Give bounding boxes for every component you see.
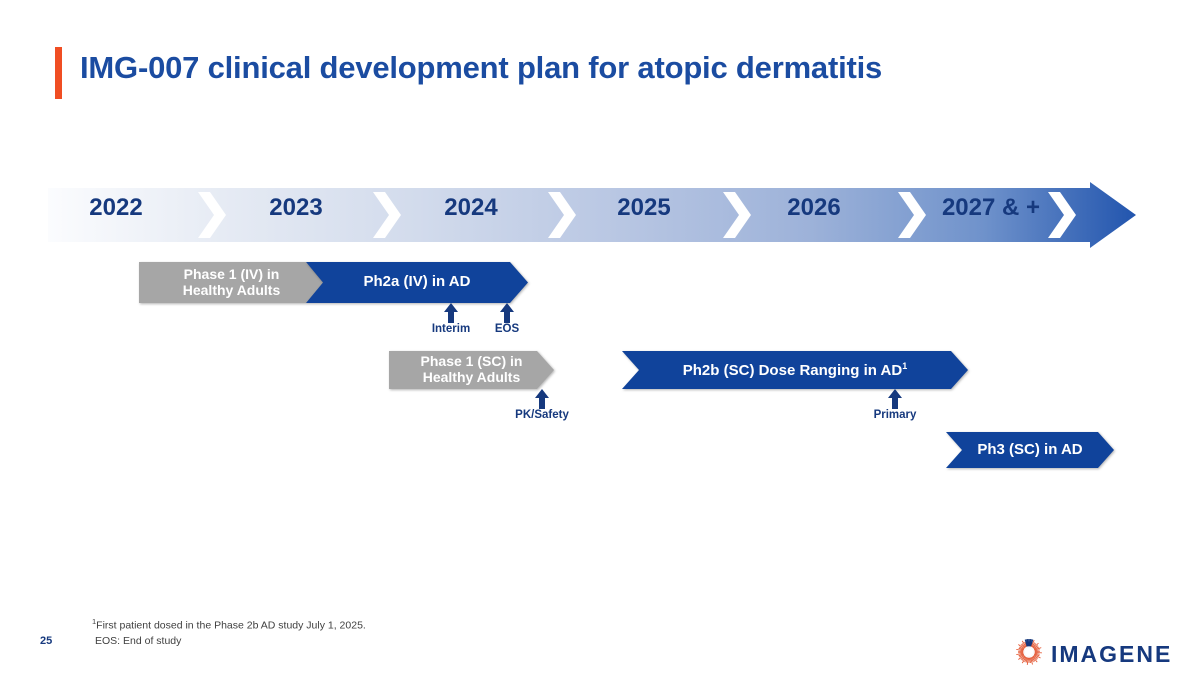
phase-bar-ph3-sc: Ph3 (SC) in AD <box>946 432 1114 468</box>
phase-bar-phase1-sc: Phase 1 (SC) in Healthy Adults <box>389 351 554 389</box>
timeline-year-2026: 2026 <box>758 194 870 222</box>
phase-bar-phase1-iv: Phase 1 (IV) in Healthy Adults <box>139 262 324 303</box>
phase-bar-ph2b-sc: Ph2b (SC) Dose Ranging in AD1 <box>622 351 968 389</box>
timeline-year-2022: 2022 <box>62 194 170 222</box>
footnote-line-2: EOS: End of study <box>92 634 366 649</box>
logo-wordmark: IMAGENE <box>1051 641 1172 668</box>
imagene-burst-icon <box>1014 637 1044 672</box>
timeline-year-2025: 2025 <box>588 194 700 222</box>
up-arrow-icon <box>887 389 903 409</box>
timeline-year-2024: 2024 <box>415 194 527 222</box>
slide-canvas: IMG-007 clinical development plan for at… <box>0 0 1200 675</box>
marker-eos: EOS <box>487 303 527 335</box>
phase-bar-label: Ph3 (SC) in AD <box>971 442 1088 459</box>
marker-label: Interim <box>432 323 470 335</box>
up-arrow-icon <box>499 303 515 323</box>
timeline-year-2023: 2023 <box>240 194 352 222</box>
phase-bar-label: Phase 1 (IV) in Healthy Adults <box>177 267 287 298</box>
page-title: IMG-007 clinical development plan for at… <box>80 50 882 86</box>
marker-pk-safety: PK/Safety <box>512 389 572 421</box>
up-arrow-icon <box>443 303 459 323</box>
marker-label: Primary <box>874 409 917 421</box>
company-logo: IMAGENE <box>1014 637 1172 672</box>
timeline-year-2027-plus: 2027 & + <box>916 194 1066 222</box>
page-number: 25 <box>40 635 52 647</box>
marker-label: EOS <box>495 323 519 335</box>
phase-bar-label: Ph2b (SC) Dose Ranging in AD1 <box>677 361 913 380</box>
footnotes: 1First patient dosed in the Phase 2b AD … <box>92 617 366 649</box>
marker-interim: Interim <box>421 303 481 335</box>
up-arrow-icon <box>534 389 550 409</box>
marker-primary: Primary <box>866 389 924 421</box>
phase-bar-label: Phase 1 (SC) in Healthy Adults <box>415 354 529 385</box>
footnote-line-1: 1First patient dosed in the Phase 2b AD … <box>92 617 366 634</box>
phase-bar-label: Ph2a (IV) in AD <box>358 274 477 291</box>
marker-label: PK/Safety <box>515 409 569 421</box>
title-accent-bar <box>55 47 62 99</box>
phase-bar-ph2a-iv: Ph2a (IV) in AD <box>306 262 528 303</box>
footnote-ref: 1 <box>902 361 907 371</box>
